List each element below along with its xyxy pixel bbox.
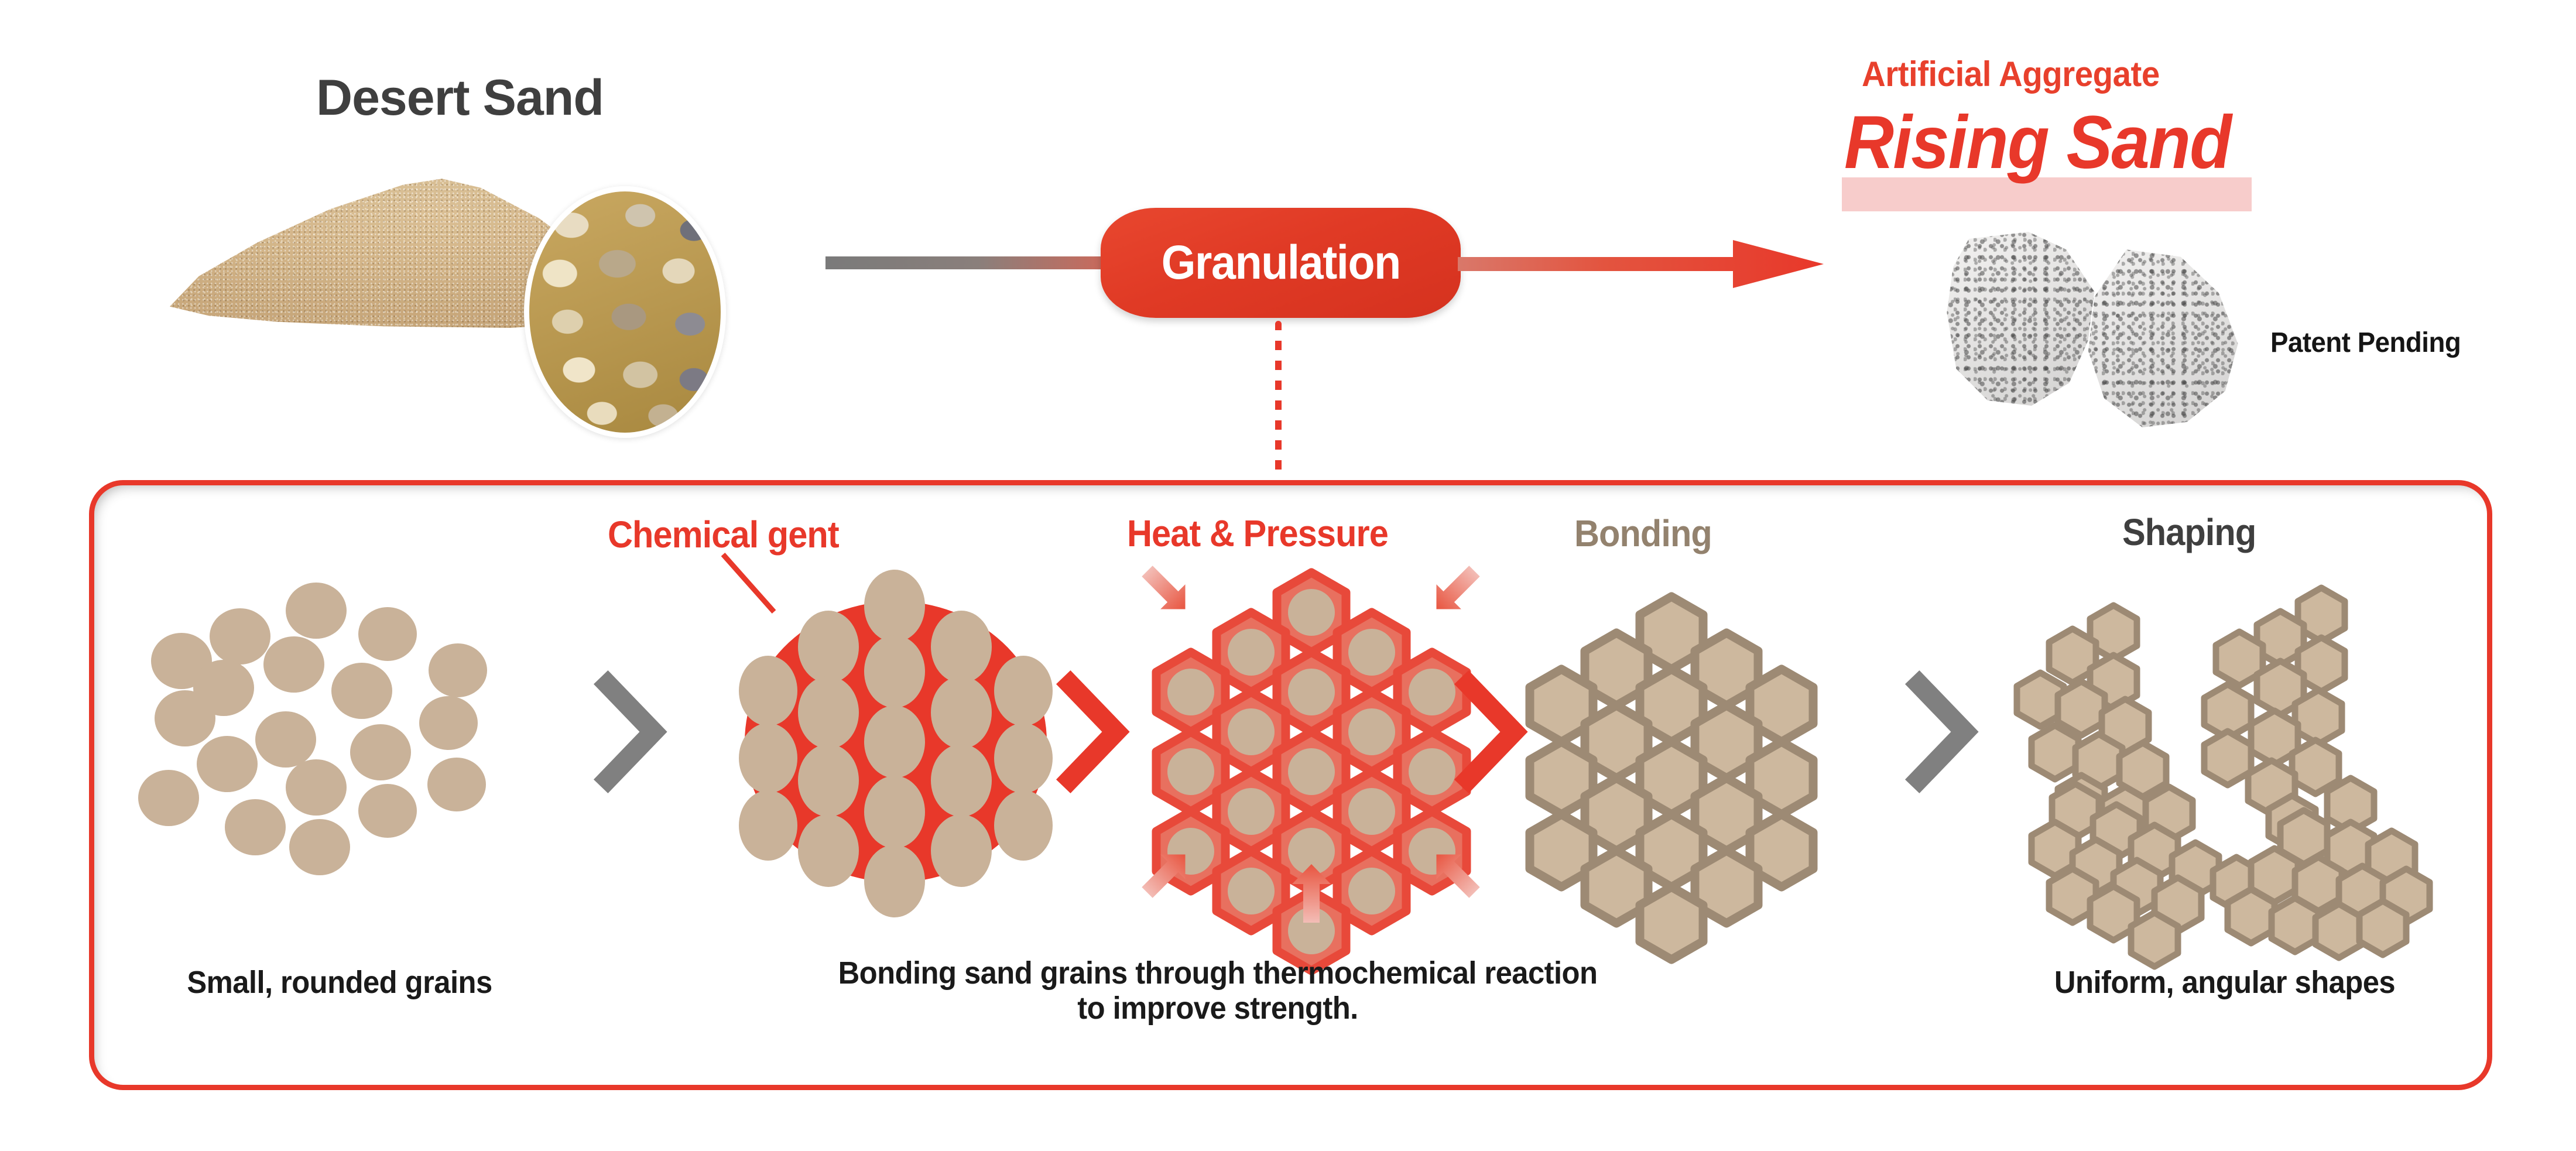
artificial-aggregate-eyebrow: Artificial Aggregate <box>1862 54 2160 94</box>
stage-shaping-graphic <box>2008 580 2406 919</box>
stage-bonding-graphic <box>1516 588 1827 896</box>
stage-grains-graphic <box>123 583 521 887</box>
stage-label-shaping: Shaping <box>2122 511 2256 554</box>
granulation-label: Granulation <box>1161 235 1400 290</box>
gray-connector-bar <box>825 256 1104 269</box>
red-arrow-right-icon <box>1458 240 1824 288</box>
caption-bonding-description: Bonding sand grains through thermochemic… <box>711 955 1724 1026</box>
stage-heat-pressure-graphic <box>1130 562 1493 902</box>
caption-small-rounded-grains: Small, rounded grains <box>103 965 576 1000</box>
caption-uniform-angular-shapes: Uniform, angular shapes <box>1950 965 2500 1000</box>
chevron-stage1-to-stage2-icon <box>598 676 663 787</box>
slide-canvas: Desert Sand Granulation Artificial Aggre… <box>0 0 2576 1151</box>
stage-label-heat-pressure: Heat & Pressure <box>1127 512 1388 555</box>
rising-sand-title: Rising Sand <box>1844 100 2231 186</box>
chevron-stage3-to-stage4-icon <box>1459 676 1523 787</box>
desert-sand-title: Desert Sand <box>316 69 604 127</box>
aggregate-rock-right <box>2082 246 2241 427</box>
dotted-vertical-connector <box>1275 321 1282 474</box>
stage-label-chemical: Chemical gent <box>608 513 839 556</box>
grain-closeup-image <box>524 186 726 438</box>
patent-pending-note: Patent Pending <box>2270 327 2461 359</box>
chevron-stage4-to-stage5-icon <box>1910 676 1974 787</box>
granulation-button[interactable]: Granulation <box>1101 208 1461 318</box>
aggregate-rock-left <box>1944 232 2101 407</box>
stage-label-bonding: Bonding <box>1574 512 1712 555</box>
aggregate-rocks-image <box>1944 228 2295 422</box>
stage-chemical-graphic <box>732 588 1060 899</box>
chevron-stage2-to-stage3-icon <box>1061 676 1125 787</box>
